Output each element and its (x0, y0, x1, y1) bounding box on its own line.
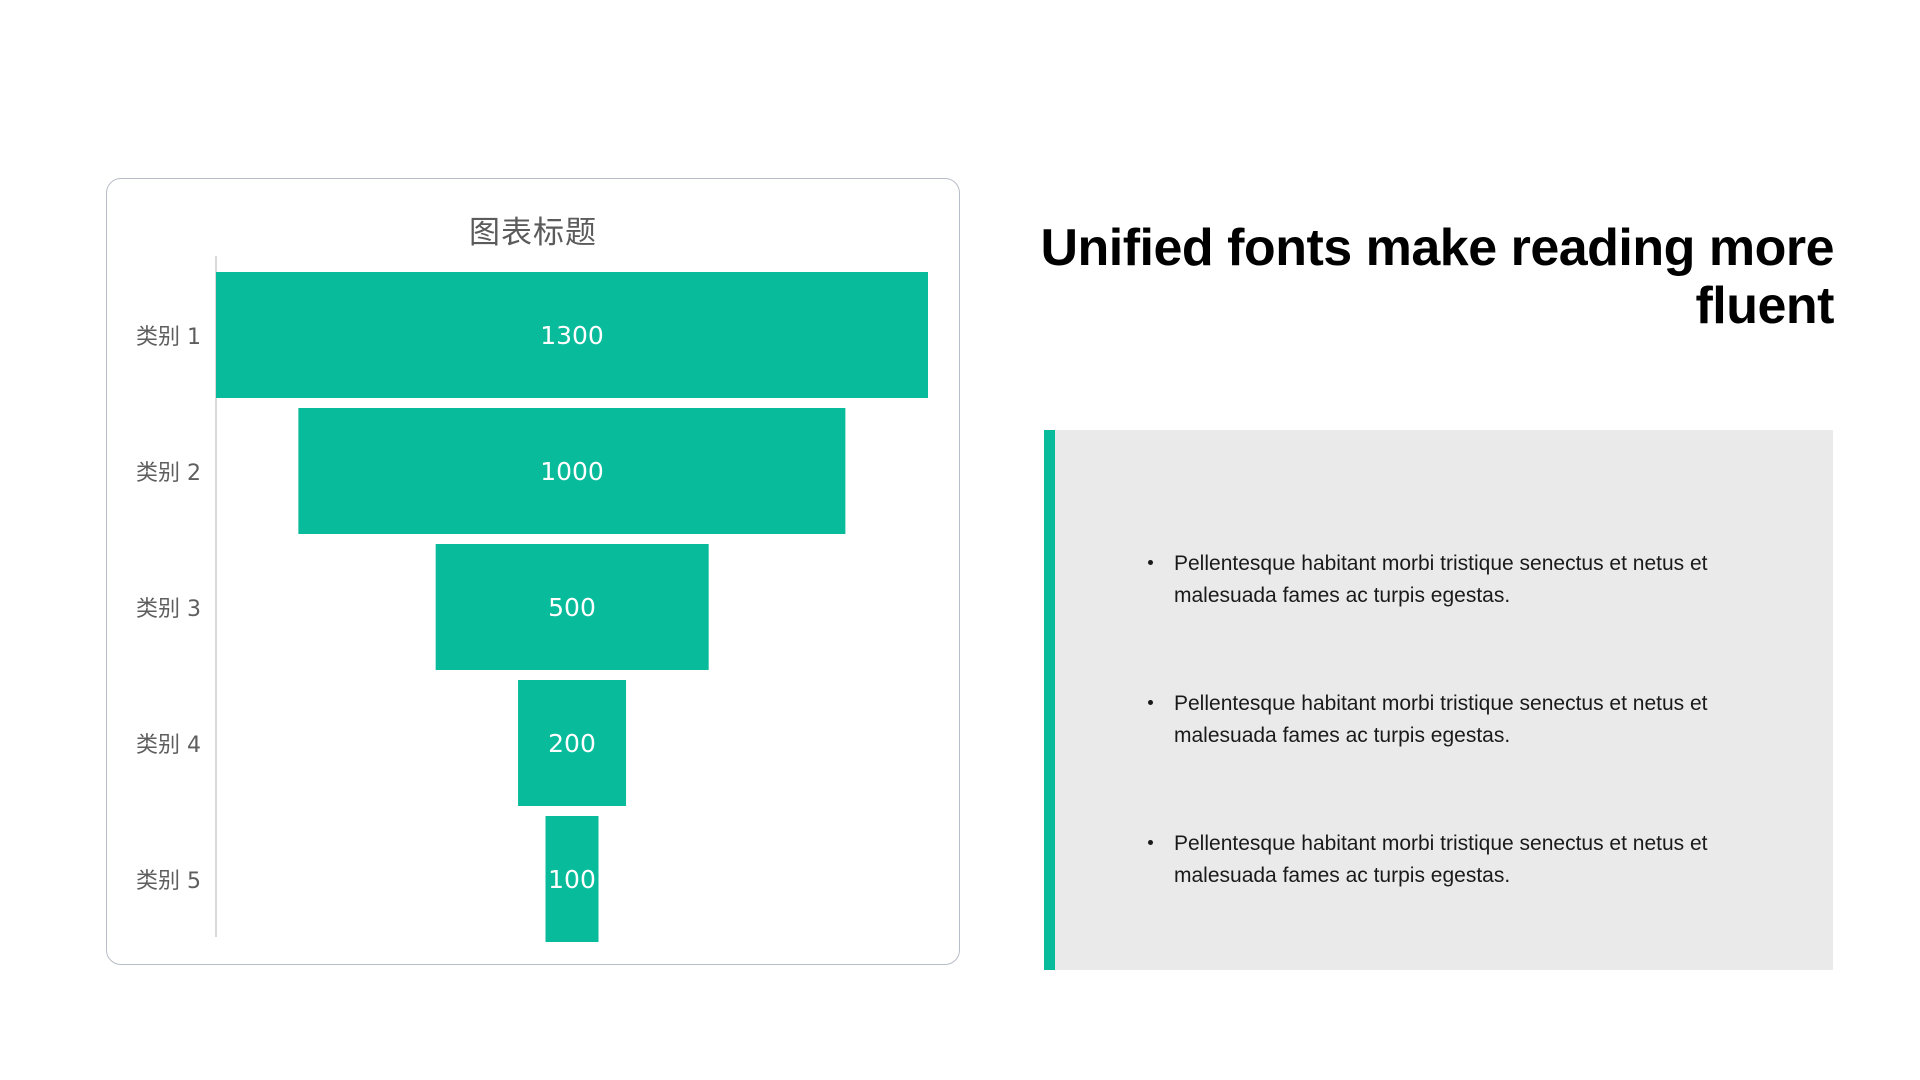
funnel-bar[interactable]: 200 (518, 680, 626, 806)
bullet-dot-icon (1148, 700, 1153, 705)
chart-plot-area: 类别 11300类别 21000类别 3500类别 4200类别 5100 (107, 256, 961, 956)
funnel-bar[interactable]: 1000 (298, 408, 845, 534)
panel-accent-bar (1044, 430, 1055, 970)
bar-value-label: 200 (548, 729, 596, 758)
list-item: Pellentesque habitant morbi tristique se… (1148, 828, 1748, 892)
funnel-bar[interactable]: 500 (436, 544, 709, 670)
list-item-text: Pellentesque habitant morbi tristique se… (1174, 552, 1708, 607)
bar-value-label: 100 (548, 865, 596, 894)
bar-value-label: 1300 (540, 321, 604, 350)
category-axis-label: 类别 2 (107, 455, 201, 487)
chart-title: 图表标题 (107, 207, 959, 252)
chart-category-row: 类别 3500 (107, 539, 961, 675)
funnel-bar[interactable]: 100 (546, 816, 599, 942)
list-item-text: Pellentesque habitant morbi tristique se… (1174, 692, 1708, 747)
chart-category-row: 类别 11300 (107, 267, 961, 403)
category-axis-label: 类别 3 (107, 591, 201, 623)
bar-value-label: 500 (548, 593, 596, 622)
page-title: Unified fonts make reading more fluent (1000, 219, 1834, 335)
bullet-dot-icon (1148, 560, 1153, 565)
category-axis-label: 类别 1 (107, 319, 201, 351)
chart-category-row: 类别 21000 (107, 403, 961, 539)
chart-category-row: 类别 4200 (107, 675, 961, 811)
category-axis-label: 类别 4 (107, 727, 201, 759)
bullet-dot-icon (1148, 840, 1153, 845)
category-axis-label: 类别 5 (107, 863, 201, 895)
list-item: Pellentesque habitant morbi tristique se… (1148, 688, 1748, 752)
content-panel: Pellentesque habitant morbi tristique se… (1044, 430, 1833, 970)
chart-category-row: 类别 5100 (107, 811, 961, 947)
funnel-bar[interactable]: 1300 (216, 272, 928, 398)
bar-value-label: 1000 (540, 457, 604, 486)
chart-card: 图表标题 类别 11300类别 21000类别 3500类别 4200类别 51… (106, 178, 960, 965)
list-item: Pellentesque habitant morbi tristique se… (1148, 548, 1748, 612)
bullet-list: Pellentesque habitant morbi tristique se… (1148, 548, 1748, 891)
list-item-text: Pellentesque habitant morbi tristique se… (1174, 832, 1708, 887)
